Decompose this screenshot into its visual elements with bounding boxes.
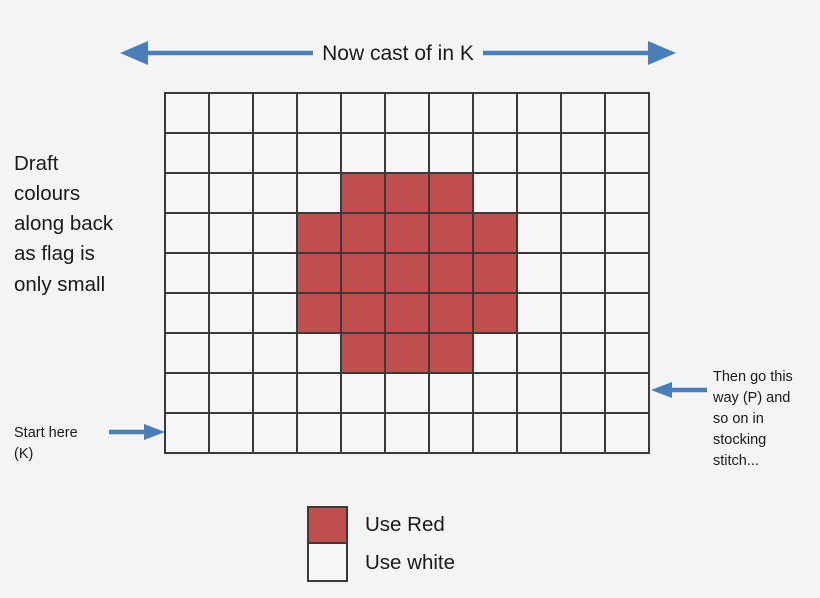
note-line: Draft (14, 149, 146, 179)
chart-cell[interactable] (562, 294, 606, 334)
chart-cell[interactable] (166, 214, 210, 254)
chart-cell[interactable] (166, 174, 210, 214)
left-pointing-arrow-icon (650, 379, 708, 401)
chart-cell[interactable] (430, 94, 474, 134)
note-line: stitch... (713, 451, 813, 472)
chart-cell[interactable] (342, 214, 386, 254)
chart-cell[interactable] (342, 374, 386, 414)
note-line: only small (14, 270, 146, 300)
chart-cell[interactable] (342, 254, 386, 294)
chart-cell[interactable] (298, 374, 342, 414)
cast-on-label: Now cast of in K (313, 43, 483, 64)
note-line: so on in (713, 409, 813, 430)
chart-cell[interactable] (430, 414, 474, 454)
chart-cell[interactable] (562, 334, 606, 374)
chart-cell[interactable] (606, 374, 650, 414)
chart-cell[interactable] (298, 334, 342, 374)
chart-cell[interactable] (254, 134, 298, 174)
chart-cell[interactable] (518, 334, 562, 374)
chart-cell[interactable] (166, 134, 210, 174)
chart-cell[interactable] (562, 374, 606, 414)
chart-cell[interactable] (166, 334, 210, 374)
chart-cell[interactable] (210, 134, 254, 174)
chart-cell[interactable] (606, 134, 650, 174)
legend-item-red: Use Red (307, 506, 455, 544)
chart-cell[interactable] (606, 414, 650, 454)
chart-cell[interactable] (386, 334, 430, 374)
chart-cell[interactable] (474, 414, 518, 454)
chart-cell[interactable] (606, 174, 650, 214)
chart-cell[interactable] (342, 334, 386, 374)
chart-cell[interactable] (254, 294, 298, 334)
chart-cell[interactable] (298, 414, 342, 454)
chart-cell[interactable] (430, 254, 474, 294)
chart-cell[interactable] (386, 134, 430, 174)
chart-cell[interactable] (254, 174, 298, 214)
chart-cell[interactable] (386, 414, 430, 454)
chart-cell[interactable] (386, 174, 430, 214)
legend-item-white: Use white (307, 544, 455, 582)
chart-cell[interactable] (430, 174, 474, 214)
chart-cell[interactable] (386, 214, 430, 254)
note-line: Start here (14, 423, 106, 444)
chart-cell[interactable] (518, 174, 562, 214)
then-go-this-way-note: Then go this way (P) and so on in stocki… (713, 367, 813, 472)
note-line: colours (14, 179, 146, 209)
draft-colours-note: Draft colours along back as flag is only… (14, 149, 146, 300)
chart-cell[interactable] (166, 414, 210, 454)
chart-cell[interactable] (518, 214, 562, 254)
chart-cell[interactable] (342, 174, 386, 214)
knitting-chart-grid (164, 92, 650, 454)
chart-cell[interactable] (386, 294, 430, 334)
chart-cell[interactable] (166, 294, 210, 334)
chart-cell[interactable] (254, 214, 298, 254)
chart-cell[interactable] (210, 414, 254, 454)
chart-cell[interactable] (210, 94, 254, 134)
chart-cell[interactable] (518, 374, 562, 414)
diagram-canvas: Now cast of in K Draft colours along bac… (0, 0, 820, 598)
chart-cell[interactable] (166, 374, 210, 414)
chart-cell[interactable] (166, 94, 210, 134)
chart-cell[interactable] (606, 214, 650, 254)
legend-label-red: Use Red (365, 515, 445, 536)
chart-cell[interactable] (562, 94, 606, 134)
chart-cell[interactable] (474, 214, 518, 254)
chart-cell[interactable] (518, 134, 562, 174)
legend: Use Red Use white (307, 506, 455, 582)
note-line: Then go this (713, 367, 813, 388)
chart-cell[interactable] (606, 94, 650, 134)
chart-cell[interactable] (210, 334, 254, 374)
chart-cell[interactable] (342, 134, 386, 174)
note-line: way (P) and (713, 388, 813, 409)
chart-cell[interactable] (254, 374, 298, 414)
chart-cell[interactable] (386, 374, 430, 414)
chart-cell[interactable] (254, 414, 298, 454)
chart-cell[interactable] (342, 94, 386, 134)
chart-cell[interactable] (518, 294, 562, 334)
chart-cell[interactable] (430, 134, 474, 174)
chart-cell[interactable] (474, 174, 518, 214)
chart-cell[interactable] (430, 294, 474, 334)
chart-cell[interactable] (210, 254, 254, 294)
note-line: as flag is (14, 239, 146, 269)
chart-cell[interactable] (606, 294, 650, 334)
chart-cell[interactable] (254, 334, 298, 374)
note-line: along back (14, 209, 146, 239)
chart-cell[interactable] (298, 134, 342, 174)
chart-cell[interactable] (562, 174, 606, 214)
chart-cell[interactable] (606, 334, 650, 374)
chart-cell[interactable] (474, 134, 518, 174)
chart-cell[interactable] (298, 254, 342, 294)
legend-swatch-red (307, 506, 348, 544)
chart-cell[interactable] (562, 134, 606, 174)
note-line: stocking (713, 430, 813, 451)
chart-cell[interactable] (474, 294, 518, 334)
chart-cell[interactable] (474, 374, 518, 414)
chart-cell[interactable] (386, 254, 430, 294)
chart-cell[interactable] (210, 174, 254, 214)
chart-cell[interactable] (210, 374, 254, 414)
chart-cell[interactable] (298, 214, 342, 254)
chart-cell[interactable] (430, 334, 474, 374)
chart-cell[interactable] (210, 214, 254, 254)
chart-cell[interactable] (606, 254, 650, 294)
note-line: (K) (14, 444, 106, 465)
right-pointing-arrow-icon (108, 421, 166, 443)
chart-cell[interactable] (430, 214, 474, 254)
chart-cell[interactable] (210, 294, 254, 334)
legend-label-white: Use white (365, 553, 455, 574)
chart-cell[interactable] (298, 174, 342, 214)
chart-cell[interactable] (254, 94, 298, 134)
chart-cell[interactable] (298, 294, 342, 334)
chart-cell[interactable] (342, 414, 386, 454)
chart-cell[interactable] (518, 94, 562, 134)
chart-cell[interactable] (298, 94, 342, 134)
start-here-note: Start here (K) (14, 423, 106, 465)
legend-swatch-white (307, 544, 348, 582)
chart-cell[interactable] (386, 94, 430, 134)
chart-cell[interactable] (474, 254, 518, 294)
chart-cell[interactable] (518, 414, 562, 454)
chart-cell[interactable] (474, 334, 518, 374)
chart-cell[interactable] (254, 254, 298, 294)
chart-cell[interactable] (562, 214, 606, 254)
chart-cell[interactable] (562, 414, 606, 454)
chart-cell[interactable] (342, 294, 386, 334)
cast-on-annotation: Now cast of in K (118, 33, 678, 73)
chart-cell[interactable] (562, 254, 606, 294)
chart-cell[interactable] (518, 254, 562, 294)
chart-cell[interactable] (166, 254, 210, 294)
chart-cell[interactable] (474, 94, 518, 134)
chart-cell[interactable] (430, 374, 474, 414)
